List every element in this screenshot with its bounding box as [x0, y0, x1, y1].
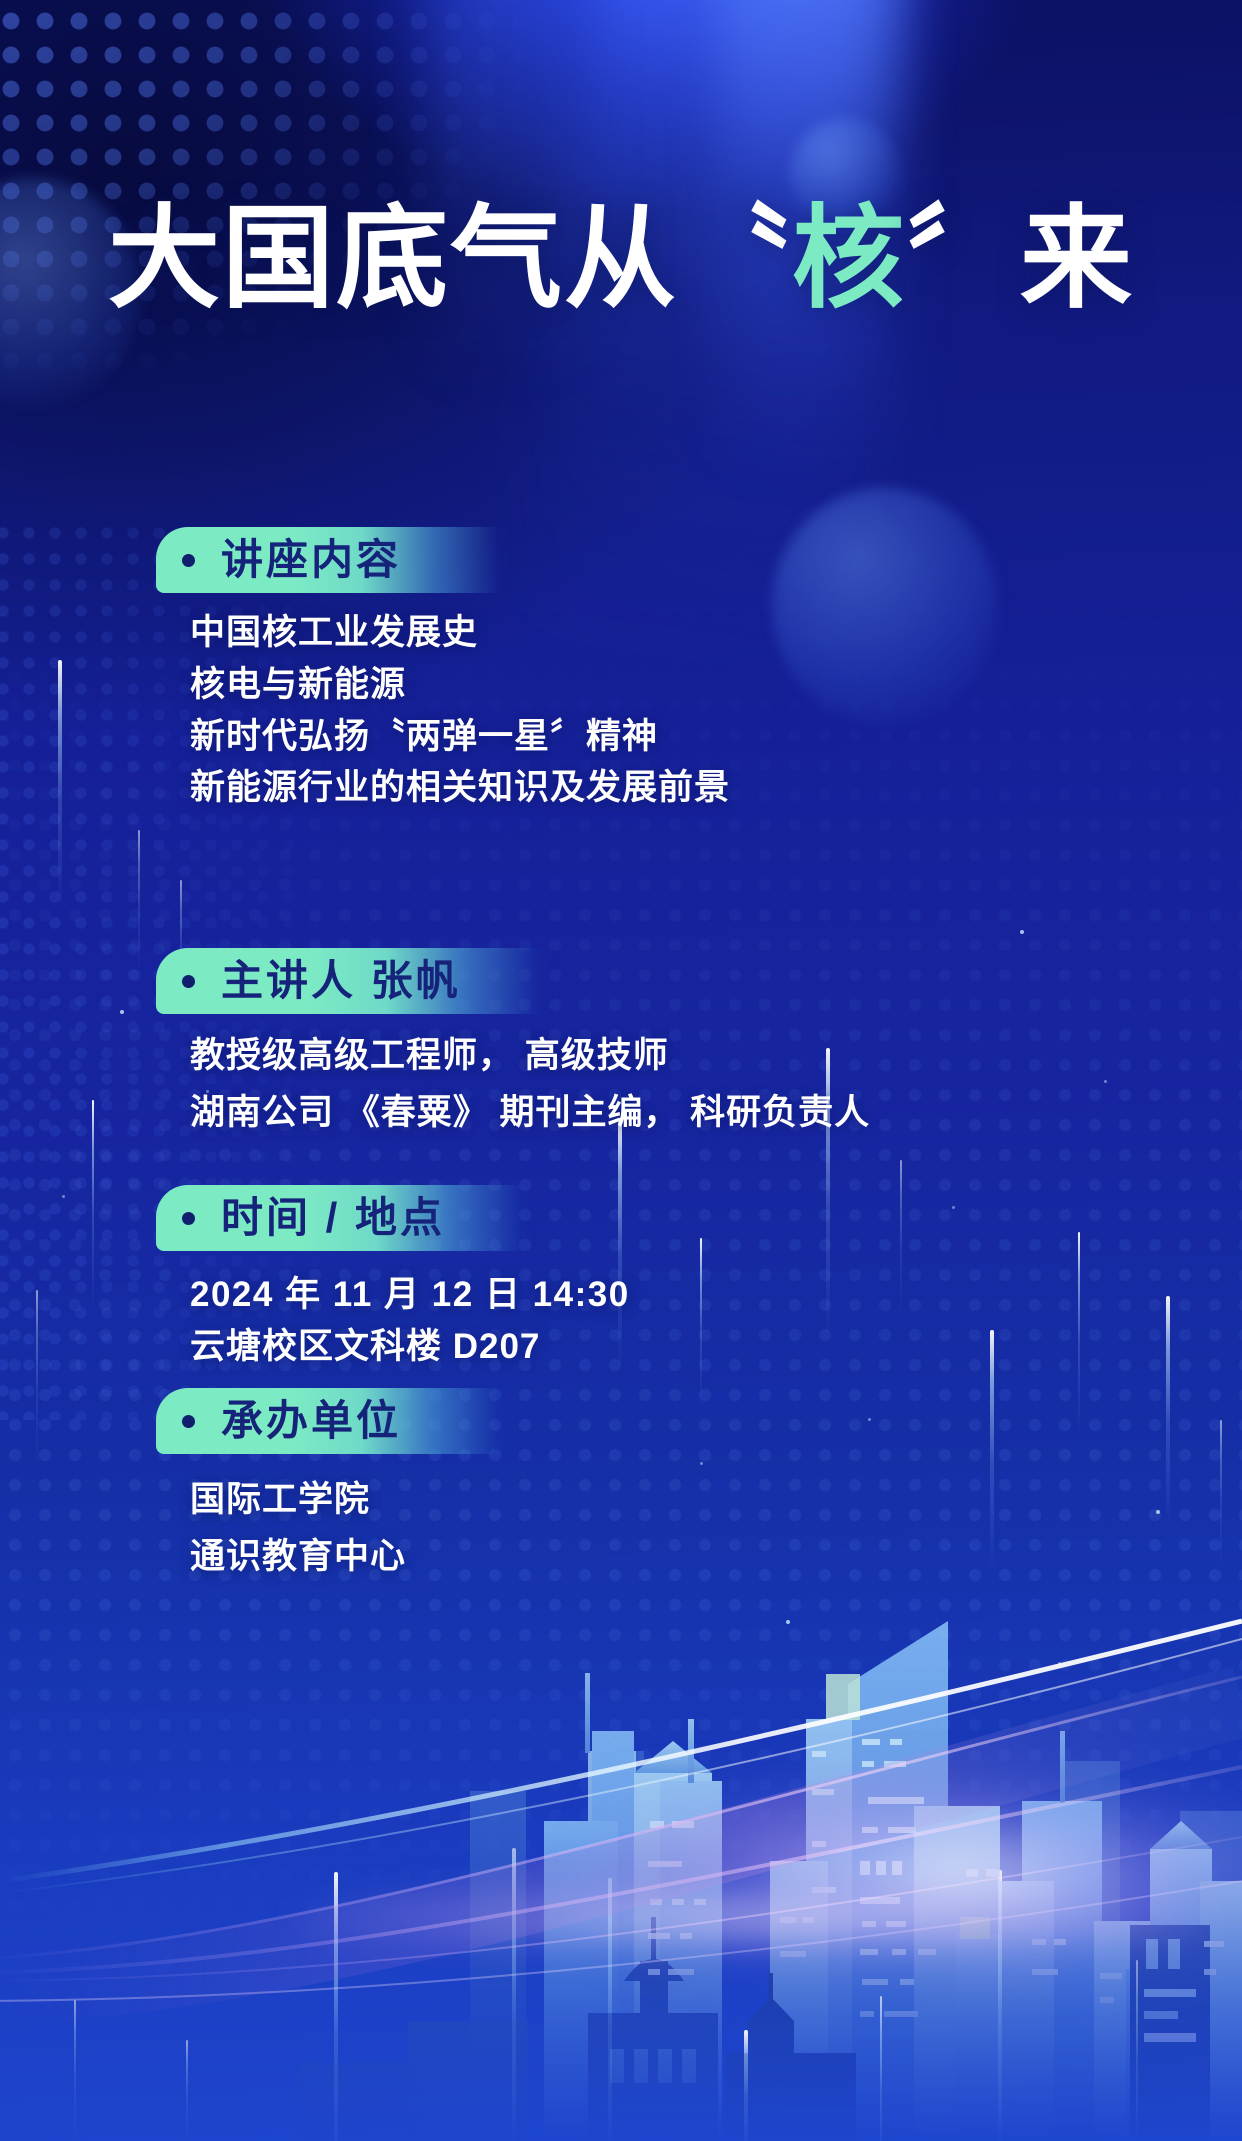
bullet-dot-icon	[182, 1212, 195, 1225]
section-heading-banner-organizers: 承办单位	[156, 1388, 512, 1454]
section-organizers: 承办单位 国际工学院 通识教育中心	[156, 1388, 512, 1585]
event-datetime: 2024 年 11 月 12 日 14:30	[190, 1269, 536, 1321]
section-heading-label: 讲座内容	[221, 539, 401, 581]
section-heading-label: 时间 / 地点	[221, 1197, 445, 1239]
list-item: 教授级高级工程师， 高级技师	[190, 1028, 554, 1085]
list-item: 湖南公司 《春粟》 期刊主编， 科研负责人	[190, 1085, 554, 1142]
section-body-organizers: 国际工学院 通识教育中心	[156, 1472, 512, 1585]
title-quote-close: 〞	[906, 196, 1020, 321]
list-item: 新能源行业的相关知识及发展前景	[190, 762, 512, 814]
list-item: 新时代弘扬〝两弹一星〞精神	[190, 711, 512, 763]
section-heading-banner-time-place: 时间 / 地点	[156, 1185, 536, 1251]
section-heading-banner-lecture-content: 讲座内容	[156, 527, 512, 593]
section-body-time-place: 2024 年 11 月 12 日 14:30 云塘校区文科楼 D207	[156, 1269, 536, 1373]
section-speaker: 主讲人 张帆 教授级高级工程师， 高级技师 湖南公司 《春粟》 期刊主编， 科研…	[156, 948, 554, 1141]
list-item: 通识教育中心	[190, 1529, 512, 1586]
section-heading-banner-speaker: 主讲人 张帆	[156, 948, 554, 1014]
section-lecture-content: 讲座内容 中国核工业发展史 核电与新能源 新时代弘扬〝两弹一星〞精神 新能源行业…	[156, 527, 512, 814]
section-heading-label: 承办单位	[221, 1400, 401, 1442]
poster-canvas: 大国底气从〝核〞来 讲座内容 中国核工业发展史 核电与新能源 新时代弘扬〝两弹一…	[0, 0, 1242, 2141]
poster-content: 大国底气从〝核〞来 讲座内容 中国核工业发展史 核电与新能源 新时代弘扬〝两弹一…	[0, 0, 1242, 2141]
bullet-dot-icon	[182, 1415, 195, 1428]
title-accent-char: 核	[792, 196, 906, 321]
section-time-place: 时间 / 地点 2024 年 11 月 12 日 14:30 云塘校区文科楼 D…	[156, 1185, 536, 1373]
poster-title: 大国底气从〝核〞来	[0, 196, 1242, 321]
event-venue: 云塘校区文科楼 D207	[190, 1321, 536, 1373]
section-heading-label: 主讲人 张帆	[221, 960, 461, 1002]
title-quote-open: 〝	[678, 196, 792, 321]
bullet-dot-icon	[182, 554, 195, 567]
section-body-speaker: 教授级高级工程师， 高级技师 湖南公司 《春粟》 期刊主编， 科研负责人	[156, 1028, 554, 1141]
section-body-lecture-content: 中国核工业发展史 核电与新能源 新时代弘扬〝两弹一星〞精神 新能源行业的相关知识…	[156, 607, 512, 814]
list-item: 中国核工业发展史	[190, 607, 512, 659]
bullet-dot-icon	[182, 975, 195, 988]
title-suffix: 来	[1020, 196, 1134, 321]
list-item: 核电与新能源	[190, 659, 512, 711]
list-item: 国际工学院	[190, 1472, 512, 1529]
title-prefix: 大国底气从	[108, 196, 678, 321]
